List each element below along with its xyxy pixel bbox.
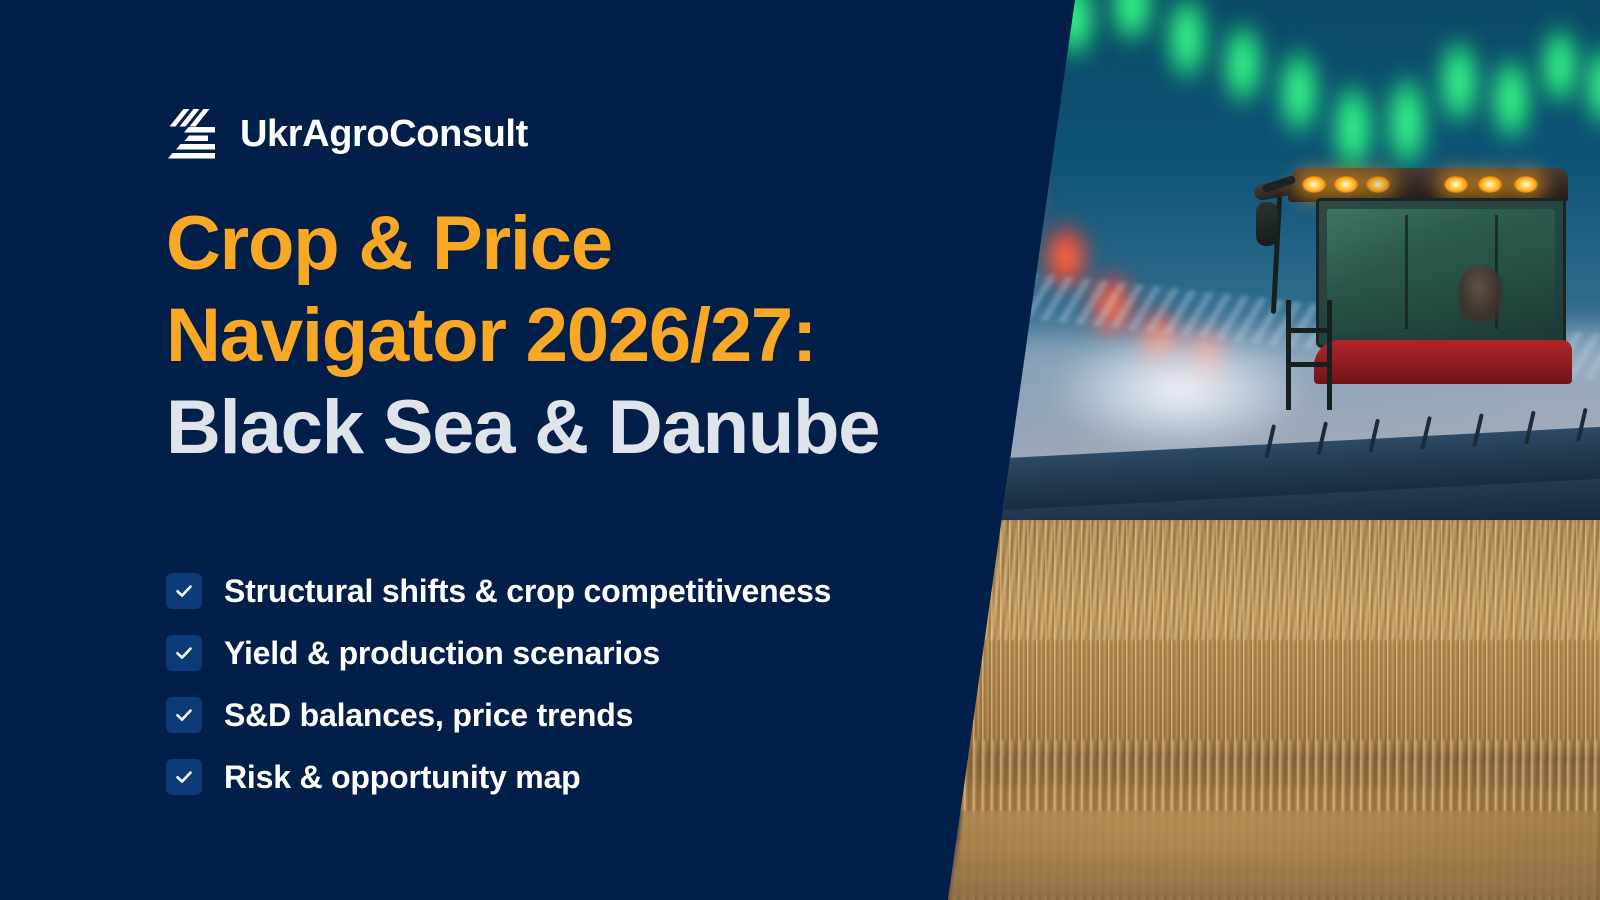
list-item-label: Yield & production scenarios [224,635,660,671]
brand-name: UkrAgroConsult [240,113,528,156]
list-item: Yield & production scenarios [166,635,831,671]
headlight [1334,176,1358,193]
candle-light-green [1490,56,1532,142]
combine-harvester [1230,140,1600,560]
candle-light-red [960,238,994,286]
reel-tine [1472,413,1484,447]
reel-tine [1316,421,1328,455]
wheat-heads [900,520,1600,640]
list-item: S&D balances, price trends [166,697,831,733]
candle-light-green [1540,26,1580,106]
headlight [1302,176,1326,193]
side-mirror [1256,202,1278,246]
cab-ladder [1286,300,1332,410]
reel-tine [1420,416,1432,450]
list-item-label: S&D balances, price trends [224,697,633,733]
candle-light-green [1222,22,1264,106]
headlight [1444,176,1468,193]
candle-light-green [1438,38,1480,126]
check-icon [166,759,202,795]
cab-glass [1327,209,1555,335]
cab-red-panel [1314,340,1572,384]
page-title: Crop & Price Navigator 2026/27: Black Se… [166,198,926,474]
candle-light-green [1278,48,1320,136]
brand-logo[interactable]: UkrAgroConsult [166,106,528,162]
headline-line-3: Black Sea & Danube [166,382,926,474]
list-item: Risk & opportunity map [166,759,831,795]
candle-light-red [998,168,1038,230]
list-item-label: Structural shifts & crop competitiveness [224,573,831,609]
reel-tine [1265,424,1277,458]
headlight [1366,176,1390,193]
content-panel: UkrAgroConsult Crop & Price Navigator 20… [0,0,960,900]
glass-mullion [1405,215,1408,329]
operator-cab [1316,198,1566,348]
candle-light-green [1166,0,1208,82]
headline-line-2: Navigator 2026/27: [166,290,926,382]
operator-silhouette [1459,267,1503,323]
check-icon [166,573,202,609]
list-item: Structural shifts & crop competitiveness [166,573,831,609]
wheat-foreground-blur [900,810,1600,900]
list-item-label: Risk & opportunity map [224,759,581,795]
feature-checklist: Structural shifts & crop competitiveness… [166,573,831,795]
check-icon [166,635,202,671]
headline-line-1: Crop & Price [166,198,926,290]
wheat-field [900,520,1600,900]
check-icon [166,697,202,733]
headlight [1478,176,1502,193]
candle-light-green [996,24,1042,120]
reel-tine [1576,408,1588,442]
reel-tine [1368,419,1380,453]
ukragroconsult-stripes-logo-icon [166,106,218,162]
promo-banner: UkrAgroConsult Crop & Price Navigator 20… [0,0,1600,900]
hero-photo [900,0,1600,900]
headlight [1514,176,1538,193]
reel-tine [1524,411,1536,445]
